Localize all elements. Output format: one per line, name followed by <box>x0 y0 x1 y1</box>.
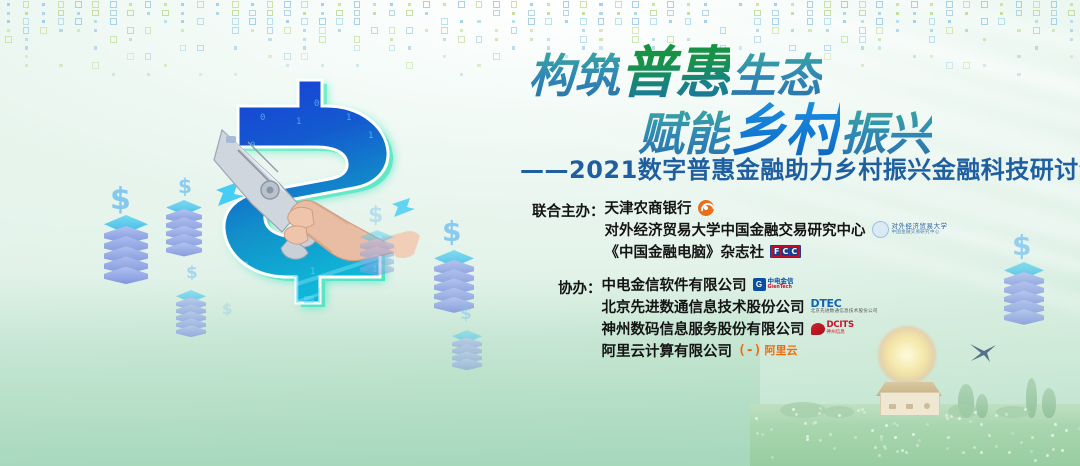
pattern-square <box>354 10 361 17</box>
dollar-icon: $ <box>442 218 461 246</box>
pattern-dot <box>965 29 968 32</box>
pattern-dot <box>687 12 690 15</box>
pattern-square <box>1016 1 1023 8</box>
pattern-square <box>284 10 291 17</box>
pattern-square <box>145 1 152 8</box>
pattern-dot <box>512 12 515 15</box>
flower-dot <box>880 438 883 441</box>
svg-text:1: 1 <box>368 131 373 141</box>
pattern-square <box>319 36 326 43</box>
pattern-dot <box>443 38 446 41</box>
pattern-dot <box>599 38 602 41</box>
pattern-square <box>389 10 396 17</box>
pattern-square <box>197 45 204 52</box>
flower-dot <box>995 414 998 417</box>
flower-dot <box>946 417 949 420</box>
pattern-dot <box>1000 3 1003 6</box>
pattern-square <box>249 10 256 17</box>
pattern-square <box>301 53 308 60</box>
svg-text:0: 0 <box>362 97 367 107</box>
flower-dot <box>969 420 972 423</box>
pattern-dot <box>965 12 968 15</box>
pattern-dot <box>547 12 550 15</box>
pattern-dot <box>774 3 777 6</box>
pattern-square <box>197 18 204 25</box>
host-label: 联合主办： <box>532 198 605 221</box>
pattern-square <box>632 27 639 34</box>
flower-dot <box>761 433 764 436</box>
pattern-dot <box>181 12 184 15</box>
pattern-square <box>545 18 552 25</box>
host-name: 对外经济贸易大学中国金融交易研究中心 <box>605 219 866 240</box>
flower-dot <box>812 422 815 425</box>
pattern-square <box>110 1 117 8</box>
pattern-dot <box>164 3 167 6</box>
flower-dot <box>806 435 809 438</box>
flower-dot <box>916 444 919 447</box>
uibe-china-finance-research-center-logo: 对外经济贸易大学 中国金融交易研究中心 <box>872 221 948 238</box>
pattern-square <box>476 36 483 43</box>
pattern-square <box>389 45 396 52</box>
pattern-square <box>807 10 814 17</box>
pattern-square <box>319 18 326 25</box>
svg-text:1: 1 <box>296 117 301 127</box>
dtec-name: DTEC <box>811 298 842 309</box>
pattern-square <box>528 10 535 17</box>
pattern-dot <box>565 20 568 23</box>
pattern-square <box>284 27 291 34</box>
pattern-dot <box>94 29 97 32</box>
house-window <box>889 404 896 409</box>
pattern-square <box>493 53 500 60</box>
server-stack <box>166 200 202 257</box>
pattern-square <box>754 36 761 43</box>
pattern-dot <box>687 3 690 6</box>
flower-dot <box>1051 434 1054 437</box>
pattern-dot <box>617 12 620 15</box>
flower-dot <box>995 445 998 448</box>
flower-dot <box>894 436 897 439</box>
pattern-dot <box>303 38 306 41</box>
pattern-square <box>162 10 169 17</box>
pattern-square <box>354 36 361 43</box>
pattern-square <box>615 1 622 8</box>
pattern-square <box>110 10 117 17</box>
flower-dot <box>792 408 795 411</box>
pattern-dot <box>791 12 794 15</box>
pattern-dot <box>530 38 533 41</box>
pattern-dot <box>59 29 62 32</box>
pattern-square <box>92 10 99 17</box>
pattern-square <box>598 18 605 25</box>
pattern-square <box>249 18 256 25</box>
flower-dot <box>946 447 949 450</box>
flower-dot <box>988 434 991 437</box>
pattern-dot <box>268 55 271 58</box>
pattern-square <box>58 1 65 8</box>
pattern-square <box>807 18 814 25</box>
pattern-square <box>284 1 291 8</box>
pattern-dot <box>373 12 376 15</box>
pattern-dot <box>477 20 480 23</box>
bush <box>780 402 826 418</box>
pattern-square <box>650 18 657 25</box>
pattern-square <box>232 18 239 25</box>
pattern-square <box>23 27 30 34</box>
flower-dot <box>857 409 860 412</box>
pattern-dot <box>338 3 341 6</box>
gientech-name-en: GienTech <box>768 286 794 291</box>
pattern-dot <box>669 20 672 23</box>
pattern-dot <box>129 3 132 6</box>
pattern-dot <box>826 29 829 32</box>
pattern-dot <box>843 12 846 15</box>
pattern-dot <box>390 3 393 6</box>
pattern-square <box>824 10 831 17</box>
pattern-square <box>1051 10 1058 17</box>
pattern-dot <box>251 3 254 6</box>
pattern-dot <box>1052 29 1055 32</box>
pattern-dot <box>582 29 585 32</box>
pattern-square <box>632 18 639 25</box>
pattern-square <box>511 27 518 34</box>
pattern-dot <box>756 3 759 6</box>
pattern-dot <box>164 64 167 67</box>
pattern-dot <box>878 12 881 15</box>
pattern-dot <box>286 20 289 23</box>
flower-dot <box>1020 441 1023 444</box>
pattern-square <box>232 10 239 17</box>
pattern-dot <box>983 38 986 41</box>
pattern-dot <box>94 46 97 49</box>
flower-dot <box>883 445 886 448</box>
flower-dot <box>1030 450 1033 453</box>
flower-dot <box>1054 423 1057 426</box>
server-stack <box>360 230 394 276</box>
flower-dot <box>1011 432 1014 435</box>
pattern-dot <box>547 38 550 41</box>
pattern-dot <box>530 3 533 6</box>
pattern-dot <box>913 12 916 15</box>
tianjin-rural-commercial-bank-logo <box>698 200 714 216</box>
title-part-1: 构筑 <box>528 49 620 103</box>
pattern-square <box>946 27 953 34</box>
host-row: 《中国金融电脑》杂志社 F C C <box>605 242 948 261</box>
pattern-dot <box>77 12 80 15</box>
title-line-1: 构筑普惠生态 <box>520 46 1080 102</box>
pattern-square <box>23 18 30 25</box>
pattern-square <box>859 36 866 43</box>
svg-text:0: 0 <box>342 285 347 295</box>
pattern-square <box>824 1 831 8</box>
pattern-dot <box>1070 29 1073 32</box>
pattern-dot <box>704 20 707 23</box>
pattern-square <box>40 27 47 34</box>
pattern-dot <box>756 29 759 32</box>
pattern-square <box>632 1 639 8</box>
pattern-dot <box>77 29 80 32</box>
cohost-label: 协办： <box>532 275 602 298</box>
pattern-dot <box>181 3 184 6</box>
pattern-dot <box>913 20 916 23</box>
pattern-dot <box>1000 12 1003 15</box>
pattern-square <box>580 36 587 43</box>
pattern-square <box>667 1 674 8</box>
pattern-square <box>458 1 465 8</box>
pattern-dot <box>739 3 742 6</box>
pattern-dot <box>843 20 846 23</box>
fcc-letter: C <box>781 247 789 256</box>
pattern-dot <box>408 3 411 6</box>
gientech-logo: G 中电金信 GienTech <box>753 278 794 291</box>
pattern-square <box>232 27 239 34</box>
pattern-square <box>110 18 117 25</box>
flower-dot <box>1046 454 1049 457</box>
uibe-subname: 中国金融交易研究中心 <box>892 231 948 236</box>
pattern-dot <box>425 12 428 15</box>
flower-dot <box>1061 449 1064 452</box>
flower-dot <box>950 415 953 418</box>
pattern-square <box>267 27 274 34</box>
flower-dot <box>804 422 807 425</box>
pattern-dot <box>390 38 393 41</box>
pattern-dot <box>1035 20 1038 23</box>
pattern-square <box>389 27 396 34</box>
pattern-dot <box>234 46 237 49</box>
gientech-mark-icon: G <box>753 278 766 291</box>
pattern-dot <box>408 46 411 49</box>
pattern-dot <box>373 3 376 6</box>
server-stack <box>176 290 206 337</box>
pattern-dot <box>42 20 45 23</box>
svg-text:1: 1 <box>256 307 261 317</box>
pattern-dot <box>791 29 794 32</box>
flower-dot <box>885 424 888 427</box>
pattern-square <box>441 18 448 25</box>
dollar-icon: $ <box>460 306 472 323</box>
pattern-square <box>75 18 82 25</box>
pattern-square <box>876 27 883 34</box>
pattern-square <box>615 18 622 25</box>
flower-dot <box>818 412 821 415</box>
pattern-square <box>876 18 883 25</box>
pattern-square <box>580 18 587 25</box>
flower-dot <box>1024 408 1027 411</box>
flower-dot <box>1031 436 1034 439</box>
pattern-dot <box>7 3 10 6</box>
cohost-row: 北京先进数通信息技术股份公司 DTEC 北京先进数通信息技术股份公司 <box>602 297 878 316</box>
pattern-square <box>441 27 448 34</box>
cohost-name: 中电金信软件有限公司 <box>602 274 747 295</box>
cohost-name: 阿里云计算有限公司 <box>602 340 733 361</box>
pattern-dot <box>251 29 254 32</box>
title-block: 构筑普惠生态 赋能乡村振兴 <box>520 46 1080 160</box>
pattern-square <box>754 18 761 25</box>
pattern-dot <box>896 29 899 32</box>
flower-dot <box>838 414 841 417</box>
sun-icon <box>878 326 936 384</box>
pattern-dot <box>1070 3 1073 6</box>
pattern-square <box>267 10 274 17</box>
event-banner: 010 111 001 010 101 001 101 <box>0 0 1080 466</box>
pattern-dot <box>599 29 602 32</box>
pattern-dot <box>495 38 498 41</box>
pattern-dot <box>321 12 324 15</box>
pattern-square <box>667 10 674 17</box>
flower-dot <box>878 454 881 457</box>
flower-dot <box>973 446 976 449</box>
dollar-icon: $ <box>186 265 198 282</box>
pattern-dot <box>808 29 811 32</box>
pattern-square <box>267 1 274 8</box>
pattern-dot <box>896 12 899 15</box>
svg-text:1: 1 <box>310 267 315 277</box>
uibe-name: 对外经济贸易大学 <box>892 223 948 230</box>
pattern-square <box>702 10 709 17</box>
pattern-square <box>354 1 361 8</box>
pattern-square <box>180 45 187 52</box>
pattern-dot <box>512 46 515 49</box>
pattern-square <box>127 53 134 60</box>
dollar-icon: $ <box>222 302 232 317</box>
pattern-square <box>876 1 883 8</box>
pattern-square <box>127 27 134 34</box>
pattern-square <box>75 1 82 8</box>
flower-dot <box>755 417 758 420</box>
svg-text:0: 0 <box>328 307 333 317</box>
pattern-dot <box>634 12 637 15</box>
pattern-dot <box>7 12 10 15</box>
svg-text:1: 1 <box>346 113 351 123</box>
pattern-square <box>772 10 779 17</box>
flower-dot <box>874 446 877 449</box>
pattern-dot <box>495 29 498 32</box>
host-row: 天津农商银行 <box>605 198 948 217</box>
pattern-square <box>1033 1 1040 8</box>
server-stack <box>452 330 482 370</box>
pattern-square <box>458 36 465 43</box>
flower-dot <box>795 413 798 416</box>
pattern-dot <box>25 38 28 41</box>
flower-dot <box>926 423 929 426</box>
pattern-square <box>981 18 988 25</box>
pattern-square <box>301 1 308 8</box>
pattern-dot <box>582 12 585 15</box>
pattern-square <box>963 1 970 8</box>
flower-dot <box>980 451 983 454</box>
flower-dot <box>947 436 950 439</box>
dtec-logo: DTEC 北京先进数通信息技术股份公司 <box>811 298 878 315</box>
cohost-name: 北京先进数通信息技术股份公司 <box>602 296 805 317</box>
pattern-square <box>319 27 326 34</box>
pattern-dot <box>948 20 951 23</box>
pattern-square <box>371 27 378 34</box>
pattern-square <box>841 1 848 8</box>
pattern-dot <box>303 46 306 49</box>
pattern-dot <box>878 38 881 41</box>
pattern-square <box>946 1 953 8</box>
svg-text:1: 1 <box>382 115 387 125</box>
pattern-dot <box>112 73 115 76</box>
pattern-square <box>23 1 30 8</box>
pattern-dot <box>704 3 707 6</box>
pattern-square <box>824 18 831 25</box>
pattern-dot <box>147 73 150 76</box>
pattern-square <box>301 18 308 25</box>
pattern-square <box>859 10 866 17</box>
pattern-dot <box>25 55 28 58</box>
flower-dot <box>871 429 874 432</box>
host-name: 天津农商银行 <box>605 197 692 218</box>
countryside-illustration <box>750 316 1080 466</box>
svg-text:0: 0 <box>260 113 265 123</box>
pattern-square <box>580 1 587 8</box>
pattern-dot <box>59 64 62 67</box>
pattern-dot <box>930 29 933 32</box>
pattern-square <box>929 18 936 25</box>
flower-dot <box>962 451 965 454</box>
pattern-dot <box>147 12 150 15</box>
pattern-square <box>58 18 65 25</box>
pattern-dot <box>861 20 864 23</box>
pattern-dot <box>181 29 184 32</box>
fcc-letter: C <box>790 247 798 256</box>
pattern-dot <box>547 3 550 6</box>
flower-dot <box>756 432 759 435</box>
pattern-square <box>354 18 361 25</box>
dollar-icon: $ <box>178 176 192 196</box>
pattern-dot <box>460 29 463 32</box>
pattern-dot <box>303 12 306 15</box>
pattern-square <box>1068 10 1075 17</box>
pattern-dot <box>7 29 10 32</box>
svg-text:0: 0 <box>226 283 231 293</box>
pattern-square <box>911 1 918 8</box>
pattern-dot <box>303 29 306 32</box>
pattern-square <box>336 18 343 25</box>
pattern-square <box>1051 1 1058 8</box>
flower-dot <box>958 417 961 420</box>
dollar-icon: $ <box>368 205 383 227</box>
pattern-square <box>354 45 361 52</box>
pattern-square <box>406 27 413 34</box>
pattern-dot <box>338 29 341 32</box>
title-part-3: 生态 <box>730 49 822 103</box>
host-group: 联合主办： 天津农商银行 对外经济贸易大学中国金融交易研究中心 对外经济贸易大学… <box>532 198 1080 261</box>
flower-dot <box>896 424 899 427</box>
pattern-dot <box>512 20 515 23</box>
flower-dot <box>912 433 915 436</box>
pattern-dot <box>1070 20 1073 23</box>
pattern-dot <box>25 46 28 49</box>
svg-text:0: 0 <box>314 99 319 109</box>
server-stack <box>104 215 148 284</box>
pattern-dot <box>181 20 184 23</box>
tree <box>976 394 988 418</box>
pattern-square <box>423 1 430 8</box>
svg-text:0: 0 <box>336 91 341 101</box>
pattern-square <box>563 10 570 17</box>
pattern-square <box>58 10 65 17</box>
pattern-square <box>145 27 152 34</box>
svg-text:1: 1 <box>278 89 283 99</box>
dollar-icon: $ <box>110 185 131 215</box>
tree <box>1042 388 1056 418</box>
pattern-square <box>1033 10 1040 17</box>
pattern-dot <box>216 12 219 15</box>
flower-dot <box>833 447 836 450</box>
pattern-square <box>807 1 814 8</box>
